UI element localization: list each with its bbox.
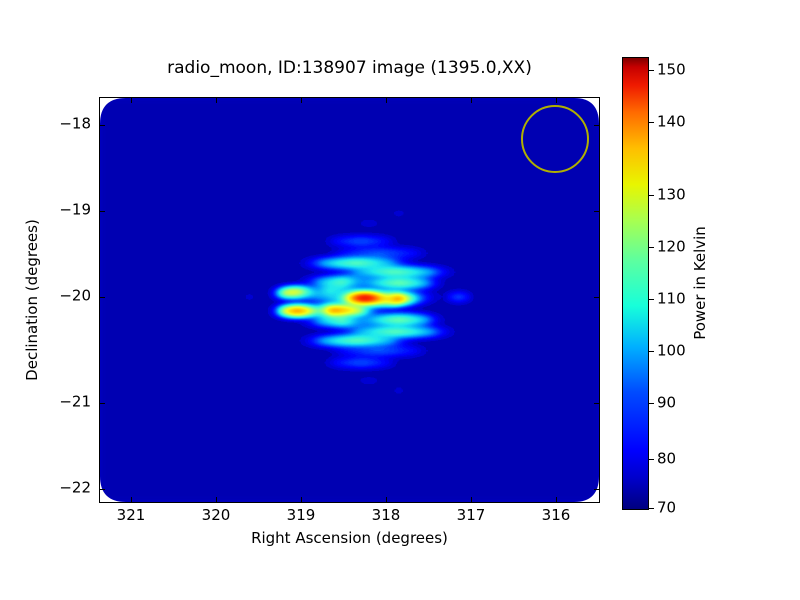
axis-tick-top — [471, 98, 472, 103]
axis-tick-left — [100, 125, 105, 126]
colorbar-tick — [649, 247, 654, 248]
colorbar-tick-label: 140 — [657, 114, 686, 131]
axis-tick-right — [594, 211, 599, 212]
axis-tick-bottom — [216, 497, 217, 502]
sky-image-axes[interactable] — [99, 97, 600, 503]
ytick-label: −22 — [59, 480, 91, 497]
xtick-label: 319 — [287, 507, 316, 524]
axis-tick-bottom — [556, 497, 557, 502]
xtick-label: 321 — [117, 507, 146, 524]
axis-tick-top — [216, 98, 217, 103]
colorbar-tick-label: 150 — [657, 62, 686, 79]
axis-tick-right — [594, 489, 599, 490]
axis-tick-left — [100, 489, 105, 490]
radio-image-heatmap — [100, 98, 599, 502]
axis-tick-right — [594, 125, 599, 126]
figure-canvas: radio_moon, ID:138907 image (1395.0,XX) — [0, 0, 800, 600]
ytick-label: −20 — [59, 288, 91, 305]
axis-tick-bottom — [471, 497, 472, 502]
page-title: radio_moon, ID:138907 image (1395.0,XX) — [99, 58, 600, 78]
axis-tick-bottom — [386, 497, 387, 502]
xtick-label: 316 — [542, 507, 571, 524]
axis-tick-right — [594, 297, 599, 298]
colorbar-tick — [649, 195, 654, 196]
colorbar-tick — [649, 299, 654, 300]
colorbar-tick-label: 90 — [657, 395, 676, 412]
axis-tick-bottom — [131, 497, 132, 502]
colorbar-gradient — [623, 58, 648, 509]
colorbar-tick — [649, 351, 654, 352]
axis-tick-left — [100, 403, 105, 404]
ytick-label: −19 — [59, 202, 91, 219]
axis-tick-bottom — [301, 497, 302, 502]
ytick-label: −21 — [59, 394, 91, 411]
colorbar-axis-label: Power in Kelvin — [691, 226, 709, 340]
xtick-label: 318 — [372, 507, 401, 524]
colorbar-tick-label: 120 — [657, 239, 686, 256]
x-axis-label: Right Ascension (degrees) — [99, 529, 600, 547]
colorbar-tick-label: 100 — [657, 343, 686, 360]
axis-tick-right — [594, 403, 599, 404]
colorbar-tick — [649, 508, 654, 509]
xtick-label: 320 — [202, 507, 231, 524]
colorbar-tick — [649, 70, 654, 71]
axis-tick-top — [386, 98, 387, 103]
colorbar-tick-label: 80 — [657, 451, 676, 468]
axis-tick-top — [131, 98, 132, 103]
axis-tick-left — [100, 297, 105, 298]
colorbar-tick-label: 130 — [657, 187, 686, 204]
axis-tick-left — [100, 211, 105, 212]
colorbar-tick-label: 70 — [657, 500, 676, 517]
xtick-label: 317 — [457, 507, 486, 524]
axis-tick-top — [556, 98, 557, 103]
colorbar-tick — [649, 403, 654, 404]
colorbar-tick-label: 110 — [657, 291, 686, 308]
colorbar[interactable] — [622, 57, 649, 510]
ytick-label: −18 — [59, 116, 91, 133]
axis-tick-top — [301, 98, 302, 103]
colorbar-tick — [649, 459, 654, 460]
colorbar-tick — [649, 122, 654, 123]
y-axis-label: Declination (degrees) — [23, 219, 41, 381]
